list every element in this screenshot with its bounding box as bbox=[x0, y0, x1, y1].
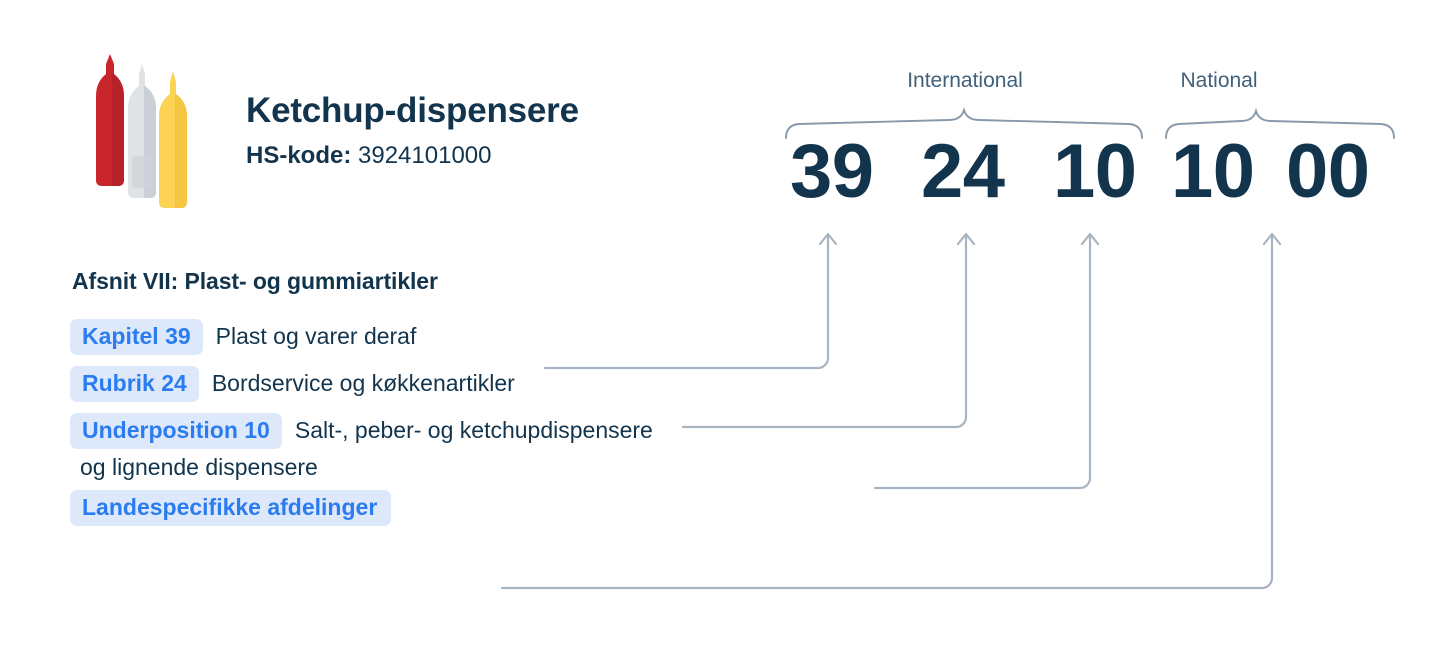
hs-code-diagram: Ketchup-dispensere HS-kode: 3924101000 I… bbox=[0, 0, 1440, 669]
digit-group-heading: 24 bbox=[921, 126, 1005, 218]
classification-row-landespecifikke: Landespecifikke afdelinger bbox=[70, 490, 900, 526]
chip-rubrik[interactable]: Rubrik 24 bbox=[70, 366, 199, 402]
classification-block: Afsnit VII: Plast- og gummiartikler Kapi… bbox=[70, 268, 900, 526]
bottle-yellow-shape bbox=[159, 71, 187, 208]
chip-kapitel[interactable]: Kapitel 39 bbox=[70, 319, 203, 355]
bottle-white-shape bbox=[128, 64, 156, 198]
page-title: Ketchup-dispensere bbox=[246, 90, 579, 131]
scope-label-international: International bbox=[890, 69, 1040, 93]
chip-landespecifikke[interactable]: Landespecifikke afdelinger bbox=[70, 490, 391, 526]
row-description-underposition: Salt-, peber- og ketchupdispensere bbox=[295, 418, 653, 442]
row-description-kapitel: Plast og varer deraf bbox=[216, 324, 417, 348]
product-text-block: Ketchup-dispensere HS-kode: 3924101000 bbox=[246, 48, 579, 170]
classification-row-underposition: Underposition 10 Salt-, peber- og ketchu… bbox=[70, 413, 900, 482]
code-breakdown-panel: International National 39 24 10 10 00 bbox=[780, 60, 1400, 240]
classification-row-rubrik: Rubrik 24 Bordservice og køkkenartikler bbox=[70, 366, 900, 402]
hs-code-value: 3924101000 bbox=[358, 142, 491, 169]
hs-code-line: HS-kode: 3924101000 bbox=[246, 142, 579, 170]
row-description-rubrik: Bordservice og køkkenartikler bbox=[212, 371, 515, 395]
digit-row: 39 24 10 10 00 bbox=[780, 126, 1400, 218]
digit-group-national-1: 10 bbox=[1171, 126, 1255, 218]
digit-group-subheading: 10 bbox=[1053, 126, 1137, 218]
row-description-underposition-continued: og lignende dispensere bbox=[80, 453, 900, 482]
bottle-red-shape bbox=[96, 54, 124, 186]
hs-code-label: HS-kode: bbox=[246, 142, 351, 169]
scope-label-national: National bbox=[1149, 69, 1289, 93]
chip-underposition[interactable]: Underposition 10 bbox=[70, 413, 282, 449]
connector-underposition bbox=[875, 236, 1090, 488]
classification-row-kapitel: Kapitel 39 Plast og varer deraf bbox=[70, 319, 900, 355]
ketchup-bottles-icon bbox=[84, 52, 208, 212]
section-heading: Afsnit VII: Plast- og gummiartikler bbox=[72, 268, 900, 295]
product-header: Ketchup-dispensere HS-kode: 3924101000 bbox=[84, 48, 579, 212]
digit-group-chapter: 39 bbox=[790, 126, 874, 218]
digit-group-national-2: 00 bbox=[1286, 126, 1370, 218]
